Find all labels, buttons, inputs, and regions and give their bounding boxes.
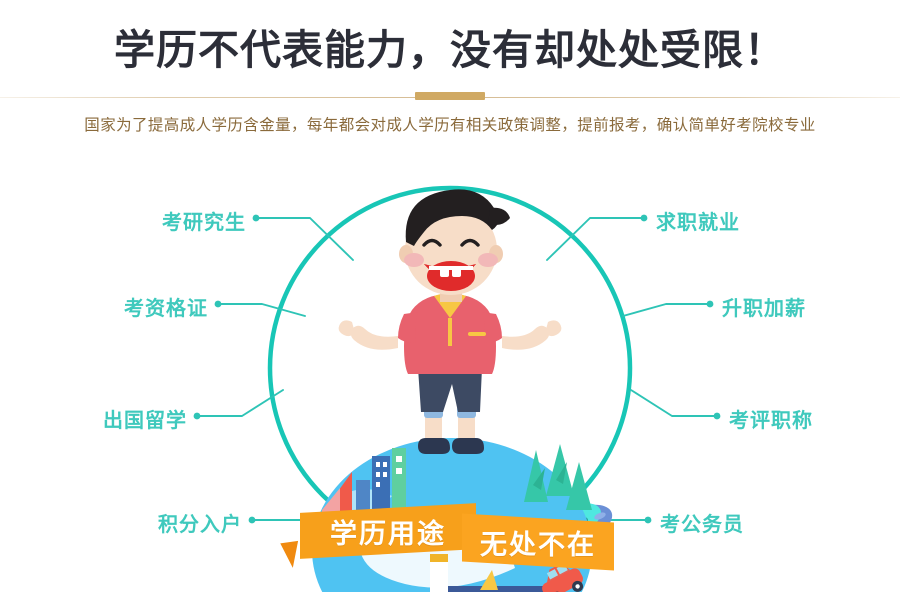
- page-title: 学历不代表能力，没有却处处受限！: [0, 16, 900, 76]
- banner-tail-icon: [280, 541, 301, 569]
- label-left-3[interactable]: 出国留学: [0, 404, 187, 433]
- page-subtitle: 国家为了提高成人学历含金量，每年都会对成人学历有相关政策调整，提前报考，确认简单…: [0, 113, 900, 135]
- divider-center-block: [415, 92, 485, 100]
- banner-right: 无处不在: [462, 513, 614, 570]
- label-right-3[interactable]: 考评职称: [729, 404, 900, 433]
- banner-left: 学历用途: [300, 503, 476, 559]
- diagram-stage: 学历用途 无处不在 考研究生 考资格证 出国留学 积分入户 求职就业 升职加薪 …: [0, 150, 900, 592]
- page-root: 学历不代表能力，没有却处处受限！ 国家为了提高成人学历含金量，每年都会对成人学历…: [0, 0, 900, 592]
- header-section: 学历不代表能力，没有却处处受限！ 国家为了提高成人学历含金量，每年都会对成人学历…: [0, 0, 900, 150]
- label-left-1[interactable]: 考研究生: [40, 206, 246, 235]
- banner-left-text: 学历用途: [330, 512, 446, 551]
- banner-right-text: 无处不在: [480, 523, 596, 562]
- label-left-2[interactable]: 考资格证: [0, 292, 208, 321]
- label-right-4[interactable]: 考公务员: [660, 508, 860, 537]
- label-left-4[interactable]: 积分入户: [40, 508, 242, 537]
- title-divider: [0, 92, 900, 102]
- label-right-1[interactable]: 求职就业: [656, 206, 856, 235]
- label-right-2[interactable]: 升职加薪: [722, 292, 900, 321]
